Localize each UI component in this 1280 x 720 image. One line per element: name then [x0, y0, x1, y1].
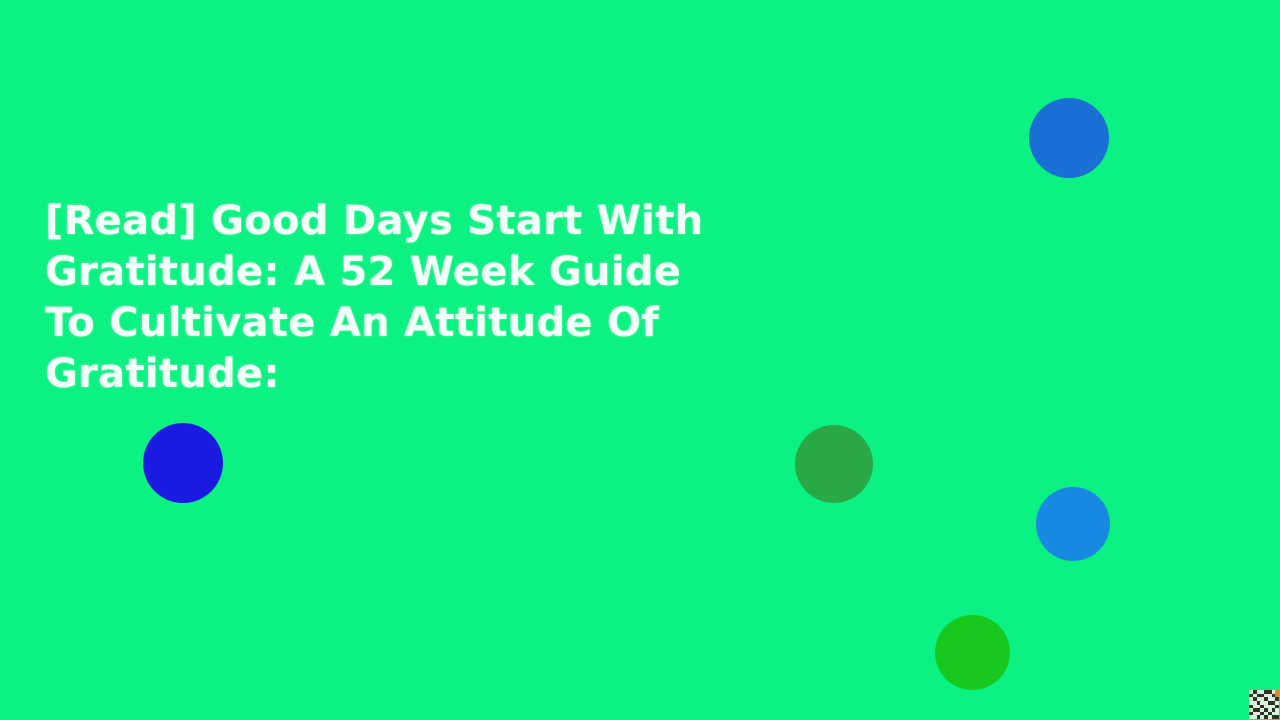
decorative-bubble-blue-right: [1036, 487, 1110, 561]
watermark-pattern-grid: [1249, 690, 1279, 719]
title-line-3: To Cultivate An Attitude Of: [45, 298, 745, 349]
decorative-bubble-green-mid: [795, 425, 873, 503]
watermark-cell: [1275, 715, 1279, 719]
decorative-bubble-green-bottom: [935, 615, 1010, 690]
title-line-2: Gratitude: A 52 Week Guide: [45, 247, 745, 298]
video-thumbnail-frame: [Read] Good Days Start With Gratitude: A…: [0, 0, 1280, 720]
decorative-bubble-blue-left: [143, 423, 223, 503]
title-line-4: Gratitude:: [45, 349, 745, 400]
corner-watermark-badge: [1249, 690, 1279, 719]
page-title: [Read] Good Days Start With Gratitude: A…: [45, 196, 745, 400]
title-line-1: [Read] Good Days Start With: [45, 196, 745, 247]
decorative-bubble-blue-top-right: [1029, 98, 1109, 178]
